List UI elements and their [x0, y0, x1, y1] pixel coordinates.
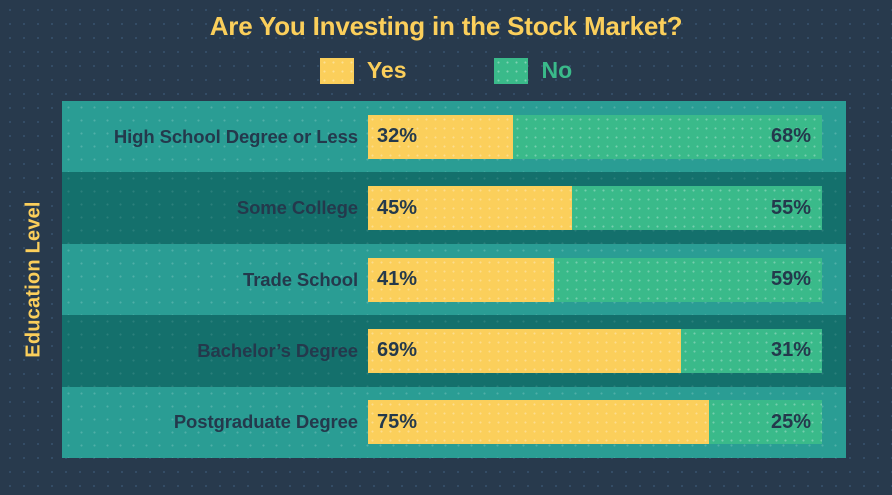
bar-value-no: 68%: [771, 125, 811, 148]
bar-segment-no[interactable]: 55%: [572, 186, 822, 230]
category-label: Bachelor’s Degree: [62, 340, 358, 362]
bar-value-no: 59%: [771, 268, 811, 291]
bar-segment-yes[interactable]: 32%: [368, 115, 513, 159]
bar-value-yes: 41%: [377, 268, 417, 291]
category-label: Trade School: [62, 269, 358, 291]
bar-value-no: 31%: [771, 339, 811, 362]
chart-row: Bachelor’s Degree 69% 31%: [62, 315, 846, 386]
legend-item-no[interactable]: No: [494, 57, 572, 84]
chart-legend: Yes No: [0, 57, 892, 84]
bar-segment-no[interactable]: 31%: [681, 329, 822, 373]
category-label: High School Degree or Less: [62, 126, 358, 148]
category-label: Some College: [62, 197, 358, 219]
bar-value-yes: 45%: [377, 197, 417, 220]
bar-segment-yes[interactable]: 69%: [368, 329, 681, 373]
chart-row: Postgraduate Degree 75% 25%: [62, 387, 846, 458]
bar-segment-yes[interactable]: 45%: [368, 186, 572, 230]
stacked-bar-track: 41% 59%: [368, 258, 822, 302]
bar-value-yes: 32%: [377, 125, 417, 148]
chart-row: Some College 45% 55%: [62, 172, 846, 243]
legend-label-no: No: [541, 57, 572, 84]
legend-swatch-yes: [320, 58, 354, 84]
chart-row: High School Degree or Less 32% 68%: [62, 101, 846, 172]
legend-item-yes[interactable]: Yes: [320, 57, 407, 84]
bar-segment-no[interactable]: 59%: [554, 258, 822, 302]
bar-value-yes: 75%: [377, 411, 417, 434]
category-label: Postgraduate Degree: [62, 411, 358, 433]
stacked-bar-track: 75% 25%: [368, 400, 822, 444]
bar-segment-yes[interactable]: 75%: [368, 400, 709, 444]
chart-title: Are You Investing in the Stock Market?: [0, 11, 892, 42]
bar-value-no: 55%: [771, 197, 811, 220]
stacked-bar-track: 32% 68%: [368, 115, 822, 159]
bar-value-yes: 69%: [377, 339, 417, 362]
y-axis-label: Education Level: [14, 101, 54, 458]
bar-value-no: 25%: [771, 411, 811, 434]
legend-swatch-no: [494, 58, 528, 84]
bar-segment-yes[interactable]: 41%: [368, 258, 554, 302]
stacked-bar-track: 45% 55%: [368, 186, 822, 230]
chart-row: Trade School 41% 59%: [62, 244, 846, 315]
stacked-bar-track: 69% 31%: [368, 329, 822, 373]
legend-label-yes: Yes: [367, 57, 407, 84]
plot-area: High School Degree or Less 32% 68% Some …: [62, 101, 846, 458]
bar-segment-no[interactable]: 68%: [513, 115, 822, 159]
y-axis-label-text: Education Level: [23, 201, 46, 357]
bar-segment-no[interactable]: 25%: [709, 400, 823, 444]
